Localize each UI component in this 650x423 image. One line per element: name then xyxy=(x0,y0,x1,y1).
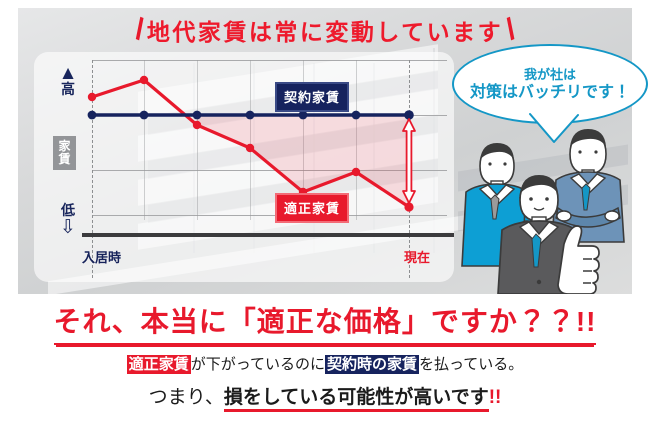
rent-line-chart: ▲ 高 家賃 低 ⇩ 入居時 現在 契約家賃 適正家賃 xyxy=(34,52,454,282)
highlight-fair-rent: 適正家賃 xyxy=(127,355,191,374)
x-axis-start-label: 入居時 xyxy=(82,247,121,266)
legend-contract-rent: 契約家賃 xyxy=(275,82,349,112)
main-headline-text: それ、本当に「適正な価格」ですか？？!! xyxy=(54,300,597,345)
contract-rent-point xyxy=(352,111,361,120)
main-headline: それ、本当に「適正な価格」ですか？？!! xyxy=(0,300,650,345)
explanation-line-1-tail: を払っている。 xyxy=(419,356,523,373)
speech-bubble-tail-icon xyxy=(528,112,588,146)
x-axis-end-label: 現在 xyxy=(404,247,430,266)
contract-rent-point xyxy=(88,111,97,120)
y-axis-high-marker: ▲ 高 xyxy=(51,66,85,98)
explanation-line-2: つまり、損をしている可能性が高いです!! xyxy=(0,382,650,409)
legend-fair-rent: 適正家賃 xyxy=(275,193,349,223)
fair-rent-point xyxy=(246,144,254,152)
y-axis-high-label: 高 xyxy=(51,81,85,98)
speech-bubble-line1: 我が社は xyxy=(524,66,576,83)
explanation-line-2-underlined: 損をしている可能性が高いです xyxy=(224,387,489,412)
speech-bubble-line2: 対策はバッチリです！ xyxy=(470,83,630,103)
contract-rent-point xyxy=(140,111,149,120)
arrow-down-icon: ⇩ xyxy=(51,219,85,237)
y-axis-title: 家賃 xyxy=(53,136,76,170)
explanation-line-2-exclaim: !! xyxy=(489,387,502,408)
title-slash-left-icon: \ xyxy=(129,15,148,46)
contract-rent-point xyxy=(246,111,255,120)
contract-rent-point xyxy=(193,111,202,120)
y-axis-low-marker: 低 ⇩ xyxy=(51,202,85,237)
fair-rent-point xyxy=(193,121,201,129)
explanation-line-1: 適正家賃が下がっているのに契約時の家賃を払っている。 xyxy=(0,353,650,374)
explanation-line-1-mid: が下がっているのに xyxy=(191,356,325,373)
y-axis-title-text: 家賃 xyxy=(58,139,70,166)
x-axis-baseline xyxy=(82,233,454,237)
fair-rent-point xyxy=(88,93,96,101)
arrow-up-icon: ▲ xyxy=(51,66,85,81)
fair-rent-point xyxy=(140,76,148,84)
highlight-contract-rent: 契約時の家賃 xyxy=(325,355,419,374)
title-slash-right-icon: / xyxy=(502,15,521,46)
explanation-line-2-head: つまり、 xyxy=(149,387,224,408)
fair-rent-point xyxy=(352,168,360,176)
title-text: 地代家賃は常に変動しています xyxy=(147,13,503,47)
